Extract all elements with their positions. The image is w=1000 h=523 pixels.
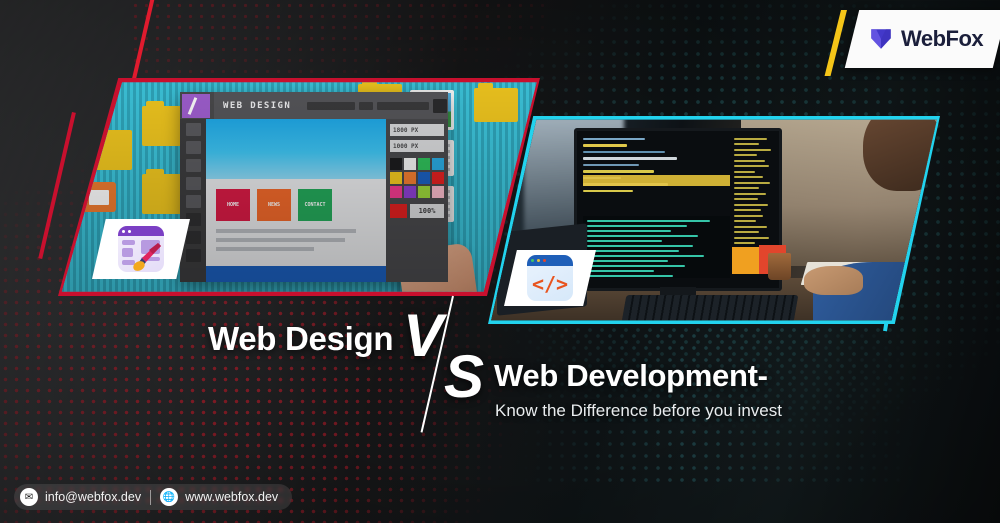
envelope-icon: ✉ <box>20 488 38 506</box>
web-development-badge: </> <box>504 250 596 306</box>
footer-email-text: info@webfox.dev <box>45 490 141 504</box>
fox-chevron-mark-icon <box>868 26 894 52</box>
banner-root: WebFox WE <box>0 0 1000 523</box>
terminal-output <box>583 216 730 279</box>
keyboard <box>621 295 798 322</box>
code-highlight-line <box>583 175 730 186</box>
footer-website-text: www.webfox.dev <box>185 490 278 504</box>
web-design-brush-icon <box>118 226 164 272</box>
web-design-badge <box>92 219 190 279</box>
paintbrush-icon <box>132 240 164 272</box>
code-tag-icon: </> <box>527 255 573 301</box>
footer-email[interactable]: ✉ info@webfox.dev <box>20 488 141 506</box>
coffee-cup <box>768 253 791 280</box>
footer-divider <box>150 490 151 505</box>
brand-logo-inner: WebFox <box>868 26 983 52</box>
globe-icon: 🌐 <box>160 488 178 506</box>
footer-website[interactable]: 🌐 www.webfox.dev <box>160 488 278 506</box>
footer-contact-bar: ✉ info@webfox.dev 🌐 www.webfox.dev <box>14 484 292 510</box>
developer-hand <box>804 266 863 295</box>
code-glyph: </> <box>527 266 573 301</box>
brand-logo-text: WebFox <box>901 26 983 52</box>
brand-logo[interactable]: WebFox <box>845 10 1000 68</box>
